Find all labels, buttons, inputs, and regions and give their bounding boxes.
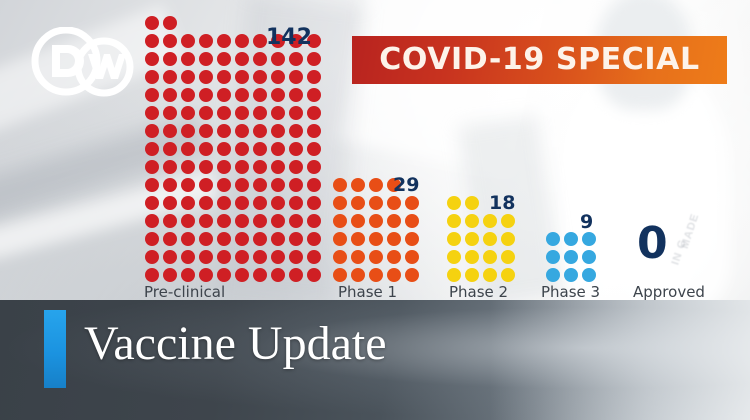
program-title: Vaccine Update <box>84 308 387 380</box>
data-dot <box>217 232 231 246</box>
data-dot <box>217 178 231 192</box>
data-dot <box>145 70 159 84</box>
data-dot <box>217 214 231 228</box>
data-dot <box>333 268 347 282</box>
data-dot <box>387 268 401 282</box>
data-dot <box>483 232 497 246</box>
data-dot <box>235 34 249 48</box>
data-dot <box>253 214 267 228</box>
data-dot <box>235 232 249 246</box>
data-dot <box>271 160 285 174</box>
data-dot <box>163 196 177 210</box>
data-dot <box>333 232 347 246</box>
data-dot <box>145 250 159 264</box>
data-dot <box>369 214 383 228</box>
category-label-phase-3: Phase 3 <box>541 285 600 300</box>
data-dot <box>447 268 461 282</box>
data-dot <box>387 214 401 228</box>
data-dot <box>271 196 285 210</box>
data-dot <box>253 142 267 156</box>
data-dot <box>271 178 285 192</box>
data-dot <box>501 232 515 246</box>
data-dot <box>199 106 213 120</box>
data-dot <box>181 142 195 156</box>
dot-group-phase-3 <box>546 232 596 282</box>
data-dot <box>369 250 383 264</box>
data-dot <box>181 52 195 66</box>
data-dot <box>483 250 497 264</box>
data-dot <box>333 196 347 210</box>
data-dot <box>163 250 177 264</box>
data-dot <box>501 268 515 282</box>
data-dot <box>307 178 321 192</box>
data-dot <box>271 268 285 282</box>
data-dot <box>253 52 267 66</box>
data-dot <box>235 88 249 102</box>
data-dot <box>351 232 365 246</box>
data-dot <box>253 88 267 102</box>
data-dot <box>163 16 177 30</box>
data-dot <box>351 214 365 228</box>
data-dot <box>163 178 177 192</box>
data-dot <box>199 268 213 282</box>
data-dot <box>369 178 383 192</box>
data-dot <box>181 34 195 48</box>
count-label-approved: 0 <box>637 222 668 266</box>
data-dot <box>307 160 321 174</box>
data-dot <box>199 88 213 102</box>
data-dot <box>447 232 461 246</box>
data-dot <box>369 196 383 210</box>
data-dot <box>271 106 285 120</box>
data-dot <box>235 124 249 138</box>
data-dot <box>271 232 285 246</box>
data-dot <box>145 214 159 228</box>
data-dot <box>181 232 195 246</box>
data-dot <box>253 124 267 138</box>
data-dot <box>546 268 560 282</box>
accent-bar <box>44 310 66 388</box>
data-dot <box>181 106 195 120</box>
data-dot <box>447 196 461 210</box>
data-dot <box>253 178 267 192</box>
data-dot <box>199 52 213 66</box>
data-dot <box>199 70 213 84</box>
data-dot <box>564 232 578 246</box>
data-dot <box>181 70 195 84</box>
data-dot <box>307 124 321 138</box>
data-dot <box>235 70 249 84</box>
data-dot <box>145 196 159 210</box>
data-dot <box>235 160 249 174</box>
data-dot <box>163 34 177 48</box>
data-dot <box>217 88 231 102</box>
data-dot <box>307 70 321 84</box>
data-dot <box>217 268 231 282</box>
data-dot <box>333 178 347 192</box>
data-dot <box>387 232 401 246</box>
data-dot <box>289 214 303 228</box>
data-dot <box>181 124 195 138</box>
data-dot <box>217 106 231 120</box>
data-dot <box>253 34 267 48</box>
data-dot <box>217 196 231 210</box>
data-dot <box>235 106 249 120</box>
data-dot <box>235 196 249 210</box>
data-dot <box>307 232 321 246</box>
data-dot <box>369 232 383 246</box>
data-dot <box>145 106 159 120</box>
data-dot <box>163 70 177 84</box>
data-dot <box>253 232 267 246</box>
data-dot <box>307 106 321 120</box>
data-dot <box>199 232 213 246</box>
data-dot <box>181 160 195 174</box>
data-dot <box>271 88 285 102</box>
data-dot <box>235 178 249 192</box>
data-dot <box>307 88 321 102</box>
data-dot <box>163 52 177 66</box>
data-dot <box>465 196 479 210</box>
category-label-pre-clinical: Pre-clinical <box>144 285 225 300</box>
data-dot <box>199 160 213 174</box>
data-dot <box>199 196 213 210</box>
data-dot <box>447 214 461 228</box>
data-dot <box>235 52 249 66</box>
data-dot <box>163 106 177 120</box>
data-dot <box>145 232 159 246</box>
data-dot <box>163 232 177 246</box>
data-dot <box>217 52 231 66</box>
data-dot <box>163 124 177 138</box>
data-dot <box>483 214 497 228</box>
data-dot <box>289 196 303 210</box>
count-label-pre-clinical: 142 <box>266 27 312 49</box>
data-dot <box>145 16 159 30</box>
data-dot <box>582 268 596 282</box>
count-label-phase-3: 9 <box>580 213 593 232</box>
data-dot <box>289 232 303 246</box>
data-dot <box>546 250 560 264</box>
data-dot <box>235 268 249 282</box>
data-dot <box>253 268 267 282</box>
data-dot <box>387 250 401 264</box>
data-dot <box>289 88 303 102</box>
data-dot <box>217 70 231 84</box>
data-dot <box>253 250 267 264</box>
data-dot <box>235 250 249 264</box>
data-dot <box>181 88 195 102</box>
data-dot <box>289 106 303 120</box>
data-dot <box>501 214 515 228</box>
data-dot <box>546 232 560 246</box>
data-dot <box>163 160 177 174</box>
data-dot <box>271 70 285 84</box>
data-dot <box>483 268 497 282</box>
category-label-phase-1: Phase 1 <box>338 285 397 300</box>
data-dot <box>351 268 365 282</box>
data-dot <box>405 232 419 246</box>
data-dot <box>181 214 195 228</box>
data-dot <box>307 250 321 264</box>
data-dot <box>289 250 303 264</box>
data-dot <box>181 196 195 210</box>
data-dot <box>501 250 515 264</box>
data-dot <box>271 52 285 66</box>
data-dot <box>447 250 461 264</box>
data-dot <box>217 124 231 138</box>
data-dot <box>582 250 596 264</box>
dot-group-pre-clinical <box>145 16 321 282</box>
data-dot <box>271 214 285 228</box>
data-dot <box>217 160 231 174</box>
data-dot <box>289 70 303 84</box>
data-dot <box>181 250 195 264</box>
data-dot <box>289 178 303 192</box>
lower-third-bar: Vaccine Update <box>0 300 750 420</box>
data-dot <box>181 268 195 282</box>
data-dot <box>307 268 321 282</box>
data-dot <box>271 124 285 138</box>
data-dot <box>253 160 267 174</box>
data-dot <box>235 142 249 156</box>
category-label-phase-2: Phase 2 <box>449 285 508 300</box>
data-dot <box>199 214 213 228</box>
data-dot <box>405 196 419 210</box>
data-dot <box>405 250 419 264</box>
lower-third-fade <box>490 300 750 420</box>
data-dot <box>199 124 213 138</box>
data-dot <box>289 124 303 138</box>
data-dot <box>405 214 419 228</box>
data-dot <box>289 268 303 282</box>
data-dot <box>163 88 177 102</box>
data-dot <box>145 178 159 192</box>
data-dot <box>369 268 383 282</box>
data-dot <box>307 142 321 156</box>
data-dot <box>333 250 347 264</box>
data-dot <box>405 268 419 282</box>
data-dot <box>465 268 479 282</box>
data-dot <box>145 34 159 48</box>
data-dot <box>307 196 321 210</box>
data-dot <box>199 34 213 48</box>
data-dot <box>351 196 365 210</box>
data-dot <box>271 142 285 156</box>
data-dot <box>289 160 303 174</box>
data-dot <box>163 214 177 228</box>
data-dot <box>145 88 159 102</box>
data-dot <box>145 160 159 174</box>
data-dot <box>271 250 285 264</box>
category-label-approved: Approved <box>633 285 705 300</box>
data-dot <box>217 250 231 264</box>
data-dot <box>199 178 213 192</box>
data-dot <box>235 214 249 228</box>
data-dot <box>307 214 321 228</box>
data-dot <box>465 250 479 264</box>
data-dot <box>564 268 578 282</box>
data-dot <box>351 178 365 192</box>
data-dot <box>163 268 177 282</box>
data-dot <box>307 52 321 66</box>
data-dot <box>217 34 231 48</box>
data-dot <box>181 178 195 192</box>
data-dot <box>145 124 159 138</box>
data-dot <box>387 196 401 210</box>
data-dot <box>351 250 365 264</box>
data-dot <box>199 250 213 264</box>
data-dot <box>564 250 578 264</box>
data-dot <box>145 268 159 282</box>
data-dot <box>253 70 267 84</box>
data-dot <box>465 232 479 246</box>
count-label-phase-1: 29 <box>393 176 419 195</box>
data-dot <box>465 214 479 228</box>
data-dot <box>163 142 177 156</box>
data-dot <box>145 142 159 156</box>
broadcast-graphic: MADE IN G COVID-19 SPECIAL 142291890 Pre… <box>0 0 750 420</box>
data-dot <box>253 106 267 120</box>
data-dot <box>289 52 303 66</box>
data-dot <box>582 232 596 246</box>
data-dot <box>199 142 213 156</box>
data-dot <box>145 52 159 66</box>
data-dot <box>253 196 267 210</box>
data-dot <box>217 142 231 156</box>
data-dot <box>289 142 303 156</box>
vaccine-dot-chart: 142291890 <box>0 0 750 300</box>
count-label-phase-2: 18 <box>489 194 515 213</box>
data-dot <box>333 214 347 228</box>
